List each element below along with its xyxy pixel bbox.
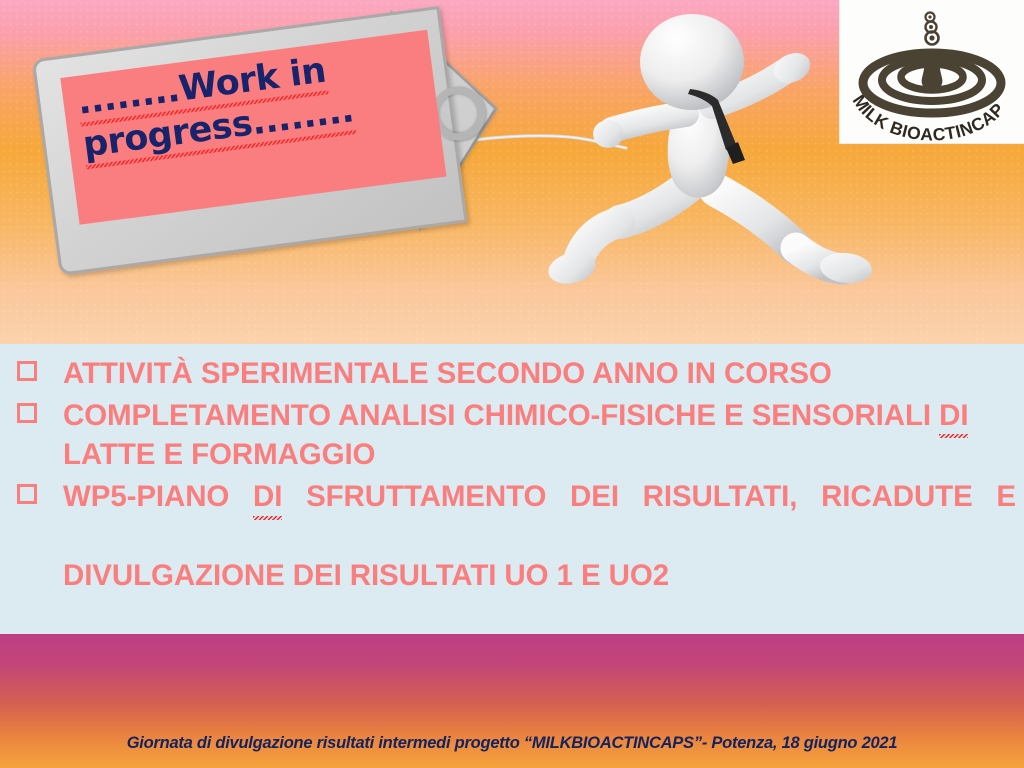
bullet-2-text-a: COMPLETAMENTO ANALISI CHIMICO-FISICHE E … [63,399,939,432]
running-figure-icon [540,10,890,320]
bullet-2-misspelled-word: DI [939,396,968,436]
square-bullet-icon [17,484,37,504]
list-item: ATTIVITÀ SPERIMENTALE SECONDO ANNO IN CO… [0,354,1024,394]
work-in-progress-tag: ........Work in progress........ [34,14,494,264]
list-item: COMPLETAMENTO ANALISI CHIMICO-FISICHE E … [0,396,1024,475]
bullet-1-text: ATTIVITÀ SPERIMENTALE SECONDO ANNO IN CO… [63,357,832,390]
project-logo: MILK BIOACTINCAPS [839,0,1024,144]
bullet-3-line-b: DIVULGAZIONE DEI RISULTATI UO 1 E UO2 [63,559,669,592]
bullet-2-text-b: LATTE E FORMAGGIO [63,438,375,471]
list-item: WP5-PIANO DI SFRUTTAMENTO DEI RISULTATI,… [0,477,1024,596]
bullet-3-misspelled-word: DI [253,477,282,517]
footer-caption: Giornata di divulgazione risultati inter… [0,734,1024,753]
hero-banner: ........Work in progress........ [0,0,1024,344]
bullet-list: ATTIVITÀ SPERIMENTALE SECONDO ANNO IN CO… [0,354,1024,598]
bullet-3-line-a: WP5-PIANO DI SFRUTTAMENTO DEI RISULTATI,… [63,477,1016,556]
tag-body: ........Work in progress........ [20,0,509,293]
square-bullet-icon [17,361,37,381]
slide-canvas: ........Work in progress........ [0,0,1024,768]
bullet-3-text-a: WP5-PIANO [63,480,253,513]
content-panel: ATTIVITÀ SPERIMENTALE SECONDO ANNO IN CO… [0,344,1024,634]
footer-band: Giornata di divulgazione risultati inter… [0,634,1024,768]
square-bullet-icon [17,403,37,423]
bullet-3-text-b: SFRUTTAMENTO DEI RISULTATI, RICADUTE E [282,480,1016,513]
